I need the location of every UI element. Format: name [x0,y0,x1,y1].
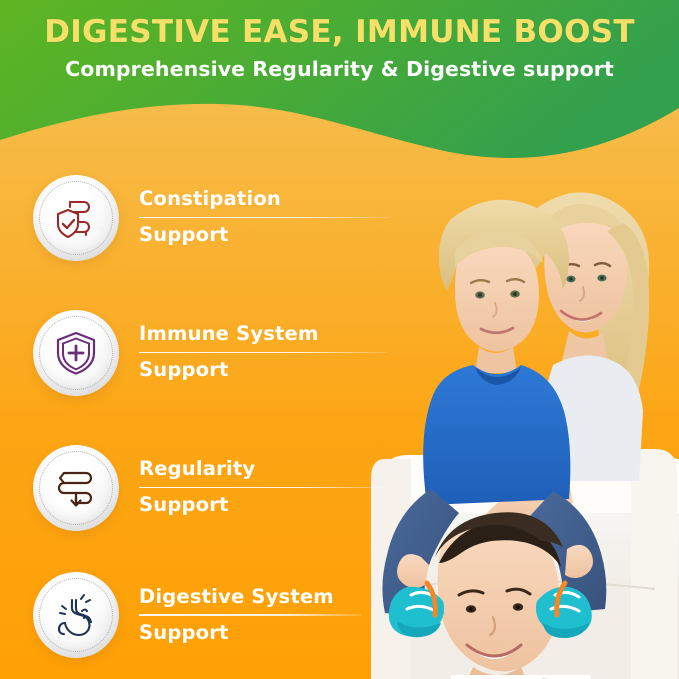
product-feature-banner: DIGESTIVE EASE, IMMUNE BOOST Comprehensi… [0,0,679,679]
feature-icon-badge [33,310,119,396]
feature-list: Constipation Support Immune System Suppo… [0,150,400,675]
feature-divider [139,217,389,219]
feature-divider [139,614,361,616]
feature-item-regularity: Regularity Support [0,420,400,555]
family-photo [355,159,679,679]
feature-title-line2: Support [139,493,387,517]
feature-title-line2: Support [139,621,361,645]
feature-title-line1: Digestive System [139,585,361,609]
feature-title-line2: Support [139,358,387,382]
feature-icon-badge [33,572,119,658]
feature-text: Constipation Support [139,187,389,247]
feature-text: Digestive System Support [139,585,361,645]
feature-title-line2: Support [139,223,389,247]
header-banner [0,0,679,185]
intestine-shield-check-icon [52,194,100,242]
feature-icon-badge [33,175,119,261]
feature-text: Regularity Support [139,457,387,517]
feature-divider [139,487,387,489]
feature-text: Immune System Support [139,322,387,382]
feature-title-line1: Immune System [139,322,387,346]
feature-item-immune-system: Immune System Support [0,285,400,420]
feature-title-line1: Constipation [139,187,389,211]
feature-item-digestive-system: Digestive System Support [0,555,400,675]
feature-icon-badge [33,445,119,531]
shield-plus-icon [52,329,100,377]
feature-divider [139,352,387,354]
intestine-down-arrow-icon [52,464,100,512]
stomach-icon [52,591,100,639]
feature-title-line1: Regularity [139,457,387,481]
